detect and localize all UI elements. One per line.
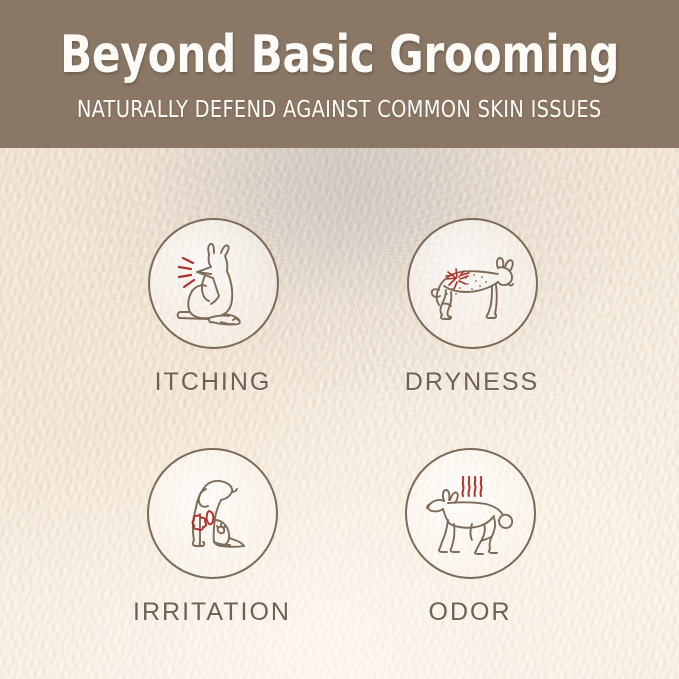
feature-grid: ITCHING [0,148,679,679]
icon-circle-dryness [407,218,538,349]
odor-wave-lines [462,477,481,496]
feature-item-dryness: DRYNESS [322,218,622,397]
dog-odor-lines-icon [414,458,526,570]
feature-label-odor: ODOR [429,598,512,627]
dog-flaky-skin-icon [416,228,528,340]
feature-item-odor: ODOR [320,448,620,627]
feature-item-itching: ITCHING [63,218,363,397]
dog-scratching-icon [157,228,269,340]
icon-circle-odor [405,448,536,579]
icon-circle-itching [148,218,279,349]
header-banner: Beyond Basic Grooming NATURALLY DEFEND A… [0,0,679,148]
page-title: Beyond Basic Grooming [60,29,619,81]
dog-irritated-patch-icon [156,458,268,570]
itch-burst-lines [179,258,194,287]
irritation-patches [193,511,214,530]
icon-circle-irritation [147,448,278,579]
page-subtitle: NATURALLY DEFEND AGAINST COMMON SKIN ISS… [77,95,602,123]
poster-canvas: Beyond Basic Grooming NATURALLY DEFEND A… [0,0,679,679]
feature-item-irritation: IRRITATION [62,448,362,627]
feature-label-dryness: DRYNESS [405,368,539,397]
feature-label-irritation: IRRITATION [133,598,291,627]
feature-label-itching: ITCHING [155,368,272,397]
